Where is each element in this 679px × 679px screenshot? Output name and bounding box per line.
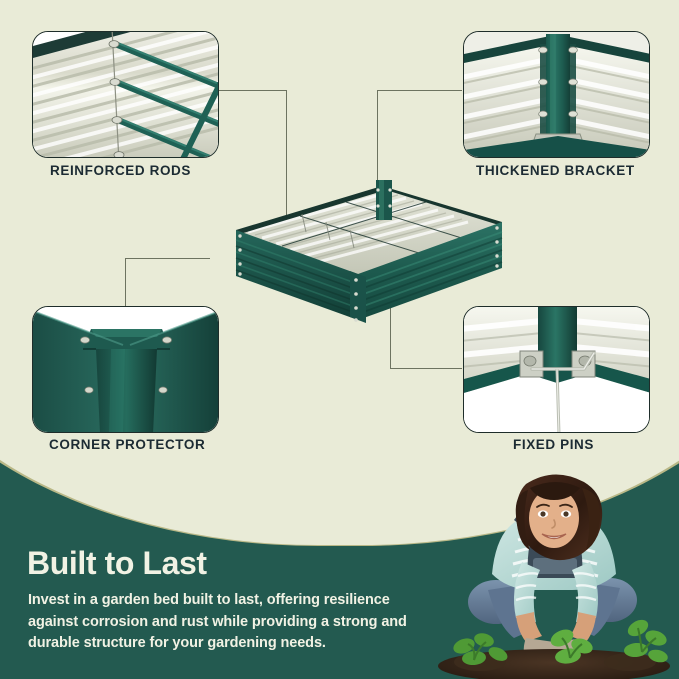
callout-panel-thickened-bracket	[463, 31, 650, 158]
connector-reinforced-rods-h	[219, 90, 287, 91]
callout-panel-reinforced-rods	[32, 31, 219, 158]
reinforced-rods-artwork	[33, 32, 218, 157]
promo-body: Invest in a garden bed built to last, of…	[28, 590, 420, 655]
connector-thickened-bracket-h	[377, 90, 462, 91]
callout-label-reinforced-rods: REINFORCED RODS	[50, 163, 191, 178]
callout-panel-corner-protector	[32, 306, 219, 433]
callout-panel-fixed-pins	[463, 306, 650, 433]
callout-label-fixed-pins: FIXED PINS	[513, 437, 594, 452]
corner-protector-artwork	[33, 307, 218, 432]
connector-fixed-pins-h	[390, 368, 462, 369]
promo-headline: Built to Last	[27, 545, 207, 582]
callout-label-thickened-bracket: THICKENED BRACKET	[476, 163, 635, 178]
thickened-bracket-artwork	[464, 32, 649, 157]
callout-label-corner-protector: CORNER PROTECTOR	[49, 437, 205, 452]
woman-gardening-photo	[430, 470, 679, 679]
fixed-pins-artwork	[464, 307, 649, 432]
product-image-raised-garden-bed	[150, 180, 510, 325]
infographic-root: REINFORCED RODS	[0, 0, 679, 679]
